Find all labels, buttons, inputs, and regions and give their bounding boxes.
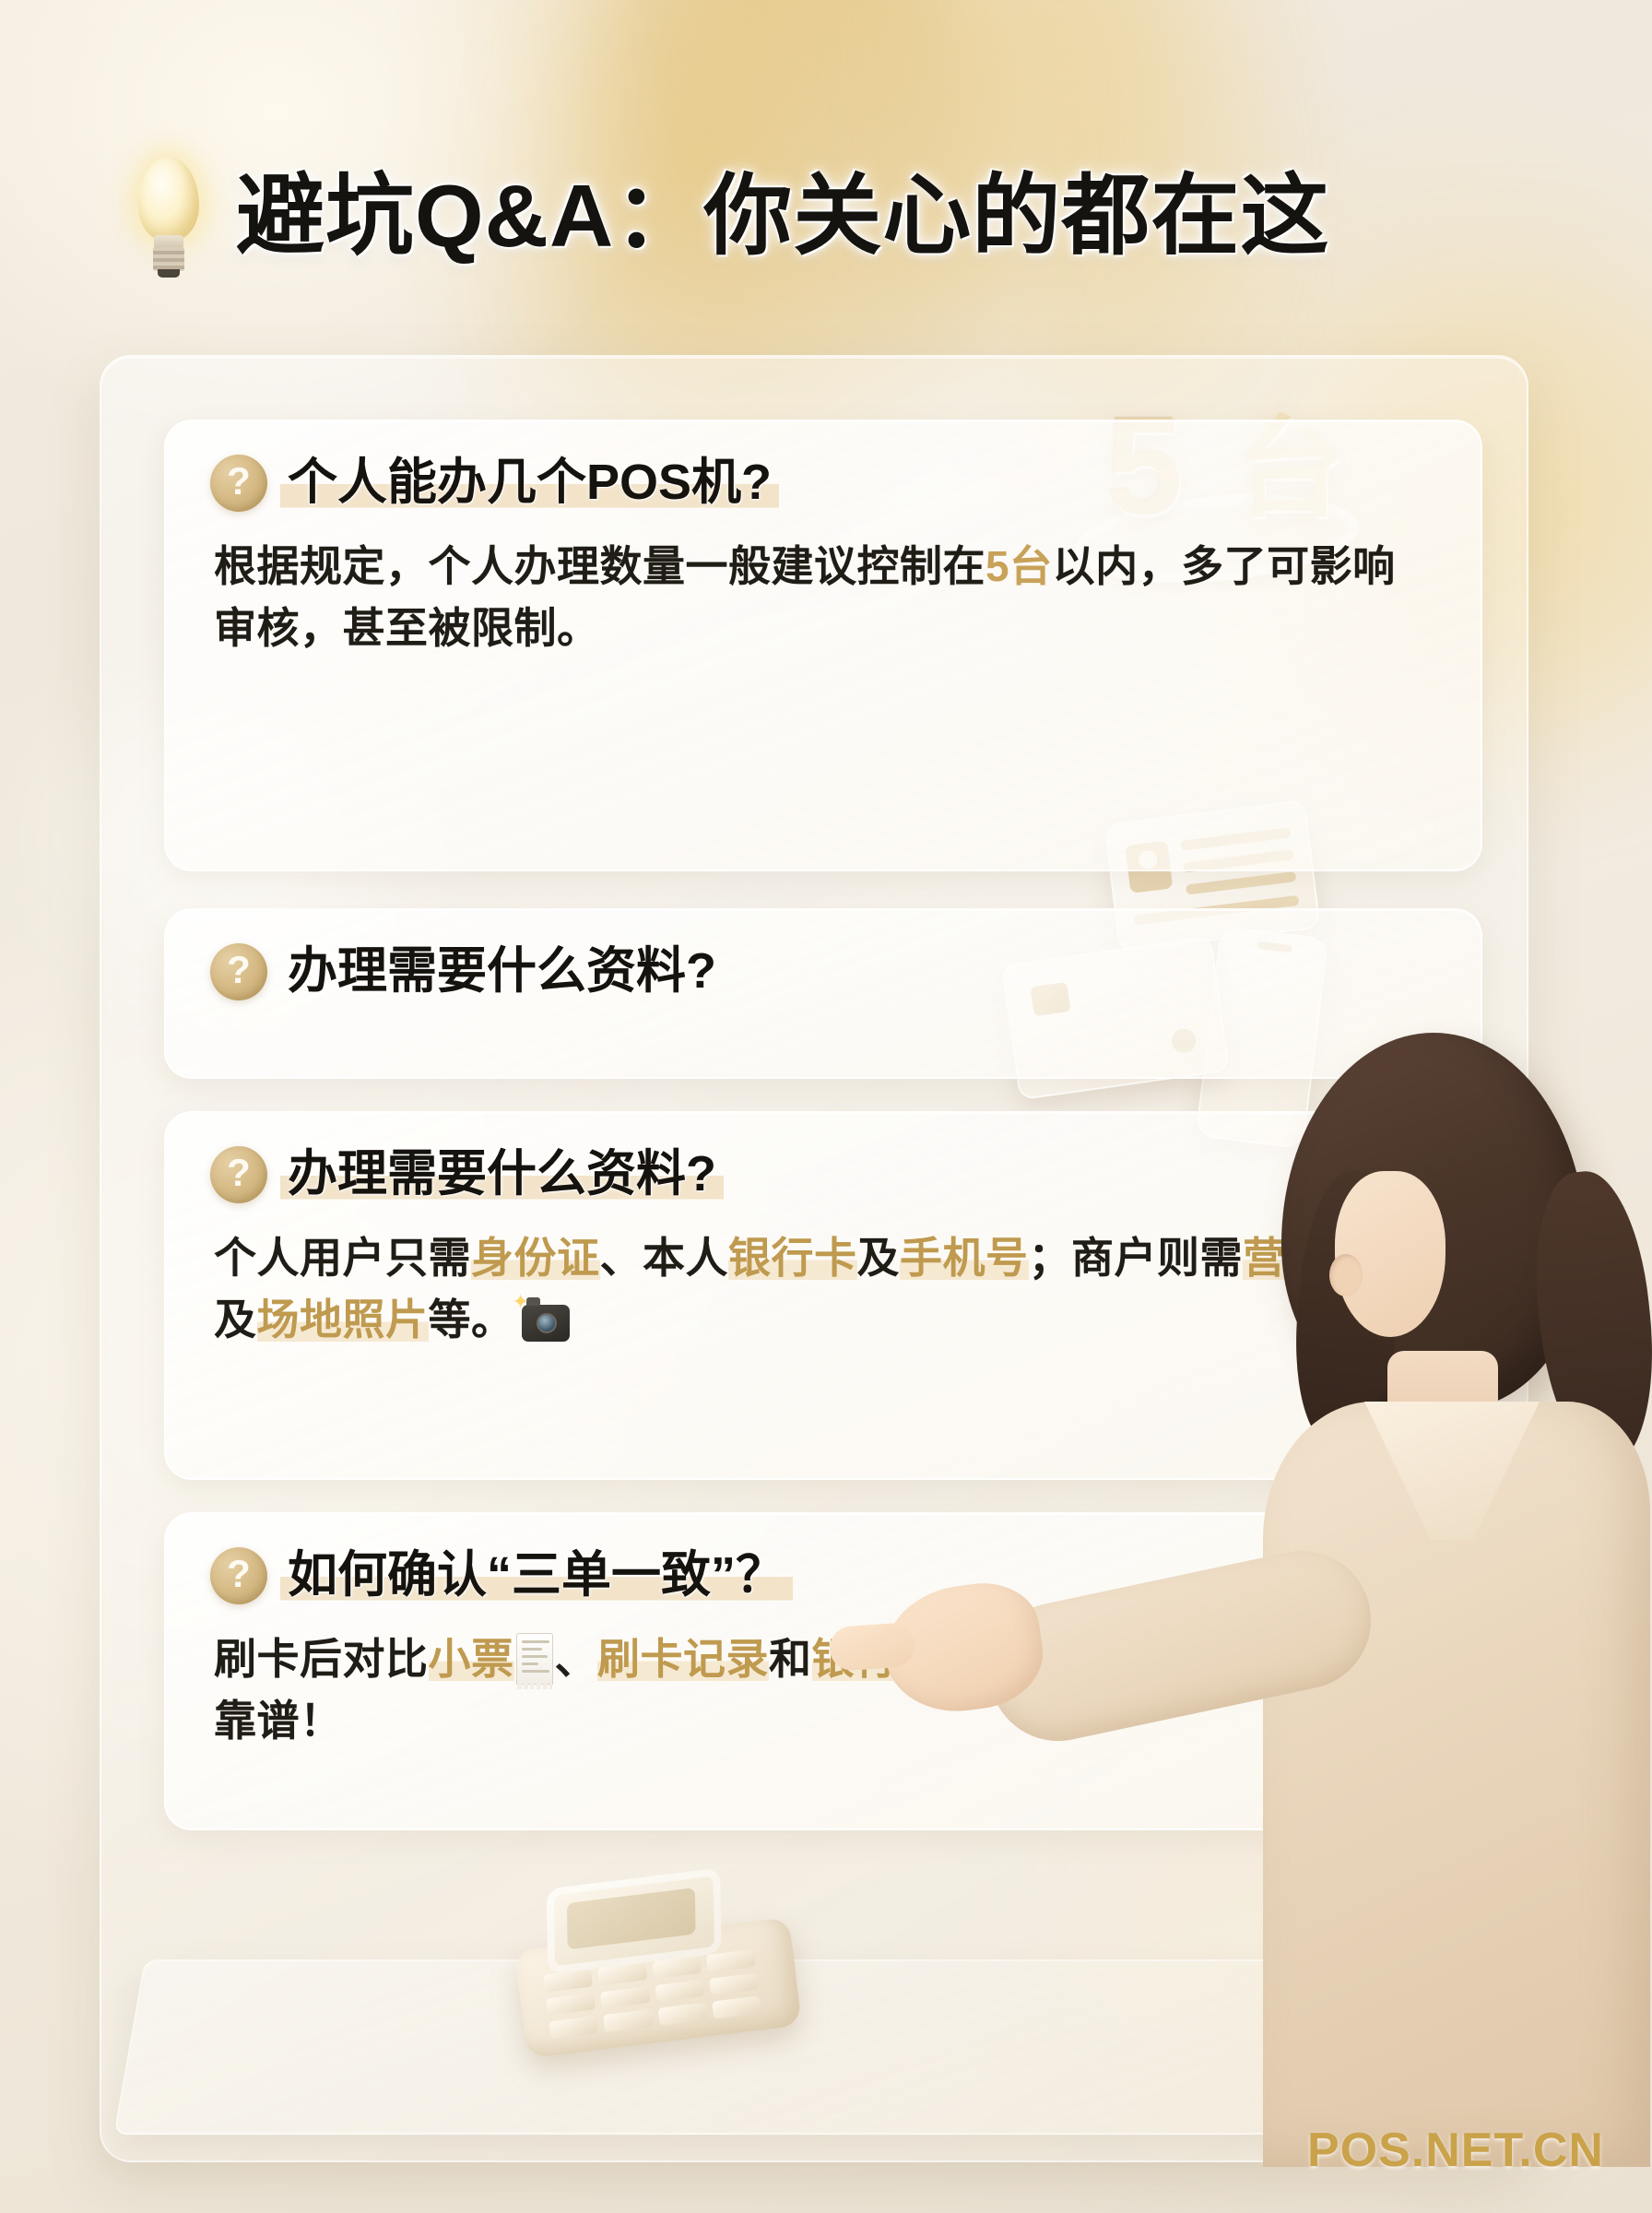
answer-text: 根据规定，个人办理数量一般建议控制在5台以内，多了可影响审核，甚至被限制。 xyxy=(166,512,1481,659)
answer-run: 及 xyxy=(214,1296,257,1343)
answer-highlight-run: 刷卡记录 xyxy=(597,1635,769,1683)
question-row: ? 办理需要什么资料? xyxy=(166,910,1481,1000)
lightbulb-icon xyxy=(129,157,208,277)
answer-highlight-run: 身份证 xyxy=(471,1234,600,1282)
header: 避坑Q&A：你关心的都在这 xyxy=(0,138,1652,295)
answer-highlight-run: 场地照片 xyxy=(257,1296,429,1343)
face xyxy=(1335,1171,1445,1337)
answer-run: 根据规定，个人办理数量一般建议控制在 xyxy=(214,542,985,590)
pos-terminal-icon xyxy=(507,1860,802,2058)
question-mark-icon: ? xyxy=(210,1146,267,1203)
question-mark-icon: ? xyxy=(210,943,267,1000)
question-mark-icon: ? xyxy=(210,1547,267,1604)
poster-root: 避坑Q&A：你关心的都在这 5 台 ? 个人能办几个POS机? 根据规定，个人办… xyxy=(0,0,1652,2213)
qa-card[interactable]: ? 个人能办几个POS机? 根据规定，个人办理数量一般建议控制在5台以内，多了可… xyxy=(164,420,1482,871)
answer-run: 、 xyxy=(555,1635,598,1683)
person-illustration xyxy=(1226,1033,1652,2167)
question-row: ? 个人能办几个POS机? xyxy=(166,421,1481,512)
answer-highlight-run: 小票 xyxy=(429,1635,514,1683)
question-mark-icon: ? xyxy=(210,455,267,512)
ear xyxy=(1329,1254,1363,1296)
answer-highlight-run: 手机号 xyxy=(900,1234,1029,1282)
question-title: 办理需要什么资料? xyxy=(280,1147,724,1201)
answer-run: 等。 xyxy=(429,1296,514,1343)
answer-run: ；商户则需 xyxy=(1029,1234,1244,1282)
question-title: 办理需要什么资料? xyxy=(288,944,716,999)
camera-icon: ✦ xyxy=(522,1305,570,1342)
answer-run: 、本人 xyxy=(600,1234,729,1282)
answer-highlight-run: 5台 xyxy=(985,542,1053,590)
answer-highlight-run: 银行卡 xyxy=(728,1234,857,1282)
watermark: POS.NET.CN xyxy=(1307,2123,1604,2178)
receipt-icon xyxy=(516,1633,553,1685)
answer-run: 和 xyxy=(769,1635,812,1683)
answer-run: 及 xyxy=(857,1234,901,1282)
answer-run: 刷卡后对比 xyxy=(214,1635,429,1683)
question-title: 如何确认“三单一致”？ xyxy=(280,1548,793,1603)
answer-run: 个人用户只需 xyxy=(214,1234,471,1282)
pointing-finger xyxy=(828,1622,915,1672)
question-title: 个人能办几个POS机? xyxy=(280,456,779,510)
page-title: 避坑Q&A：你关心的都在这 xyxy=(236,172,1329,261)
